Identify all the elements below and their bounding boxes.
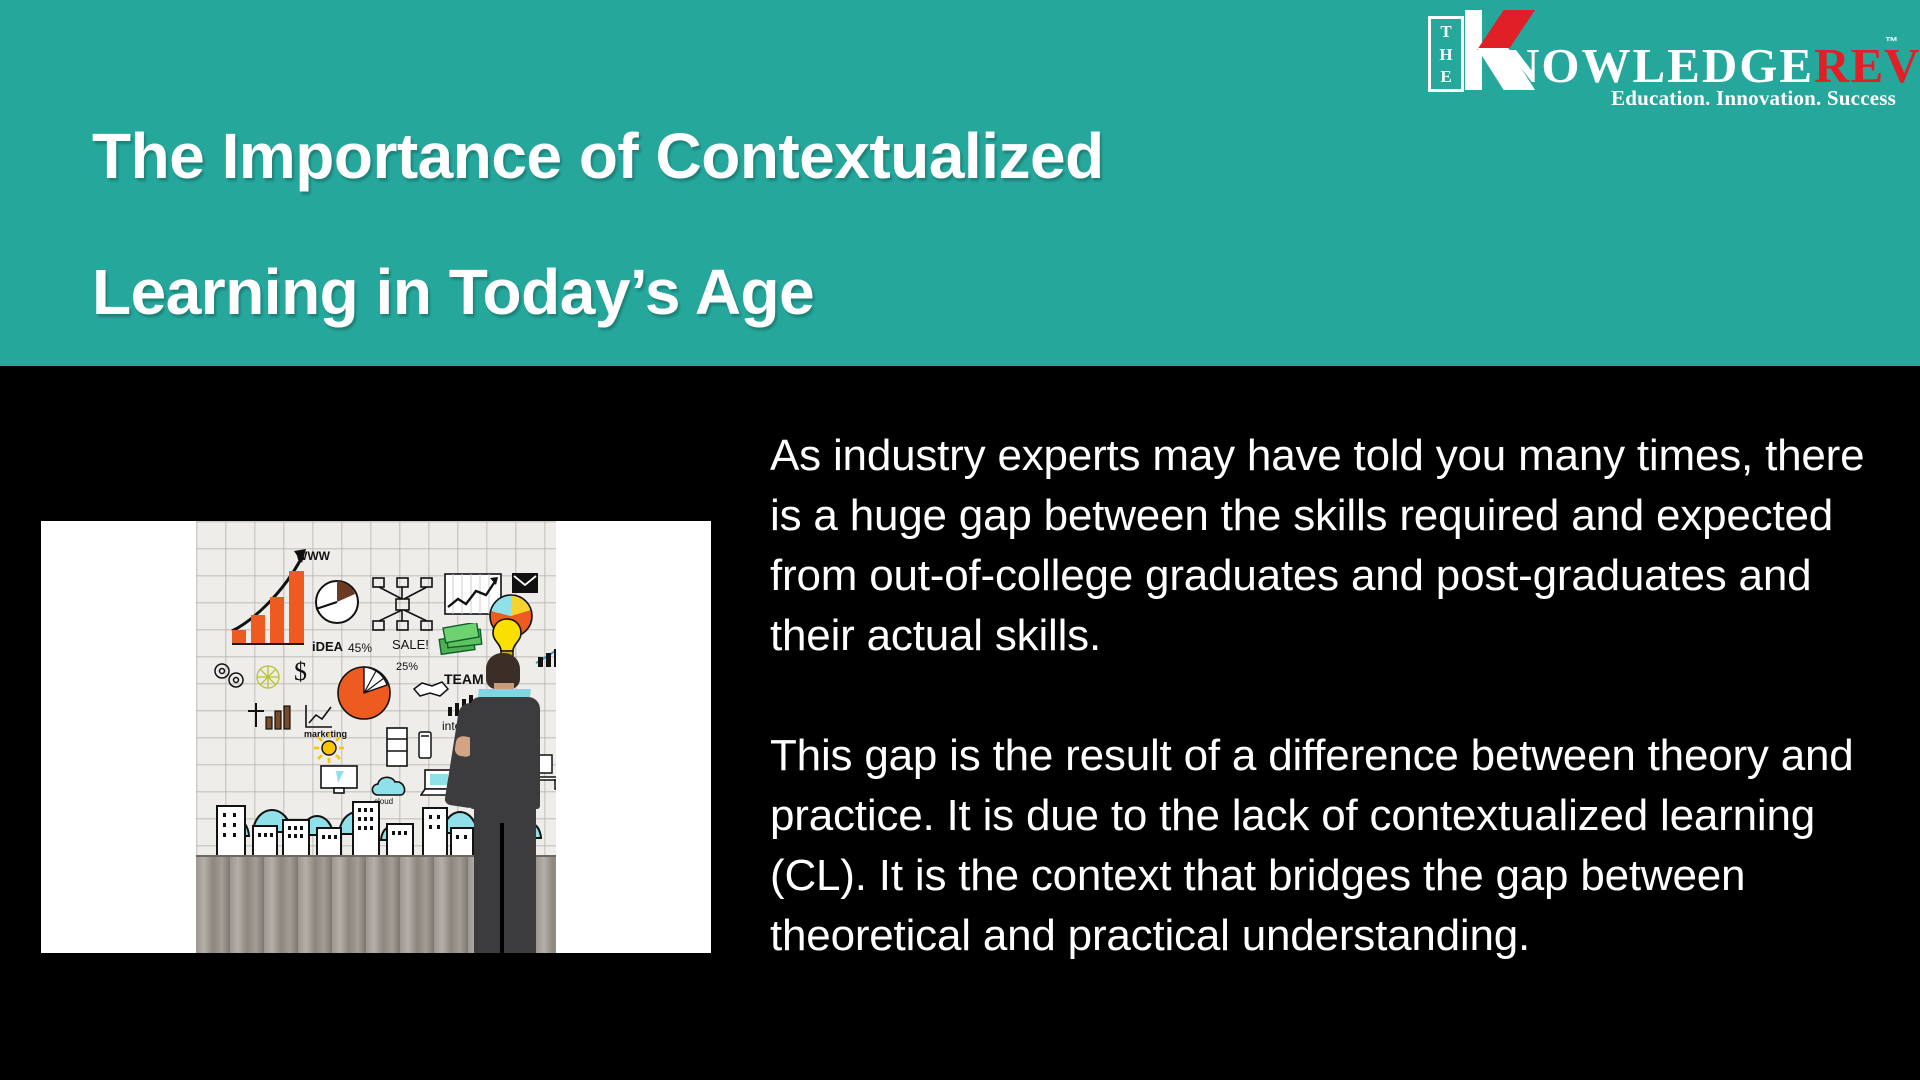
body-text-column: As industry experts may have told you ma… bbox=[770, 382, 1900, 1010]
network-sphere-doodle bbox=[254, 663, 282, 691]
gears-doodle bbox=[212, 661, 248, 691]
building-doodle bbox=[216, 805, 246, 857]
slide-body: WWW bbox=[0, 366, 1920, 1080]
building-doodle bbox=[252, 825, 278, 857]
businessman-figure bbox=[446, 653, 554, 953]
presentation-slide: The Importance of Contextualized Learnin… bbox=[0, 0, 1920, 1080]
title-line-2: Learning in Today’s Age bbox=[92, 224, 1432, 360]
logo-word-knowledge: NOWLEDGE bbox=[1504, 38, 1814, 93]
orange-pie-chart-doodle bbox=[336, 665, 392, 721]
sale-label: SALE! bbox=[392, 637, 429, 652]
logo-letter-h: H bbox=[1439, 45, 1452, 64]
monitor-doodle bbox=[320, 765, 358, 795]
server-tower-doodle bbox=[386, 727, 408, 767]
dollar-sign-doodle: $ bbox=[294, 657, 307, 687]
cross-doodle bbox=[248, 703, 264, 727]
percent-45-label: 45% bbox=[348, 641, 372, 655]
www-label: WWW bbox=[296, 549, 330, 563]
logo-letter-t: T bbox=[1440, 22, 1451, 41]
trademark-symbol: ™ bbox=[1885, 34, 1898, 49]
logo-the-box: T H E bbox=[1428, 16, 1464, 92]
figure-leg-split bbox=[500, 823, 504, 953]
brand-logo: T H E NOWLEDGEREVIEW ™ Education. Innova… bbox=[1428, 8, 1898, 120]
pie-chart-outline-doodle bbox=[314, 579, 360, 625]
logo-letter-e: E bbox=[1440, 67, 1451, 86]
page-title: The Importance of Contextualized Learnin… bbox=[92, 88, 1432, 360]
business-doodle-photo: WWW bbox=[196, 521, 556, 953]
building-doodle bbox=[316, 827, 342, 857]
sun-doodle bbox=[314, 733, 344, 763]
logo-word-review: REVIEW bbox=[1814, 38, 1920, 93]
mobile-phone-doodle bbox=[418, 731, 432, 759]
network-diagram-doodle bbox=[372, 577, 434, 633]
building-doodle bbox=[422, 807, 448, 857]
envelope-icon-doodle bbox=[512, 573, 538, 593]
marketing-trend-doodle bbox=[304, 703, 334, 729]
figure-torso bbox=[470, 697, 540, 809]
body-paragraph-2: This gap is the result of a difference b… bbox=[770, 726, 1900, 966]
idea-label: iDEA bbox=[312, 639, 343, 654]
figure-legs bbox=[474, 803, 536, 953]
money-stack-doodle bbox=[438, 623, 486, 657]
body-paragraph-1: As industry experts may have told you ma… bbox=[770, 426, 1900, 666]
cloud-upload-doodle bbox=[368, 773, 410, 799]
building-doodle bbox=[386, 823, 414, 857]
logo-tagline: Education. Innovation. Success bbox=[1611, 86, 1896, 111]
title-line-1: The Importance of Contextualized bbox=[92, 88, 1432, 224]
slide-header: The Importance of Contextualized Learnin… bbox=[0, 0, 1920, 366]
marketing-bars-doodle bbox=[264, 701, 298, 731]
bar-chart-doodle bbox=[232, 569, 304, 643]
percent-25-label: 25% bbox=[396, 661, 418, 673]
building-doodle bbox=[282, 819, 310, 857]
illustration-card: WWW bbox=[41, 521, 711, 953]
building-doodle bbox=[352, 801, 380, 857]
